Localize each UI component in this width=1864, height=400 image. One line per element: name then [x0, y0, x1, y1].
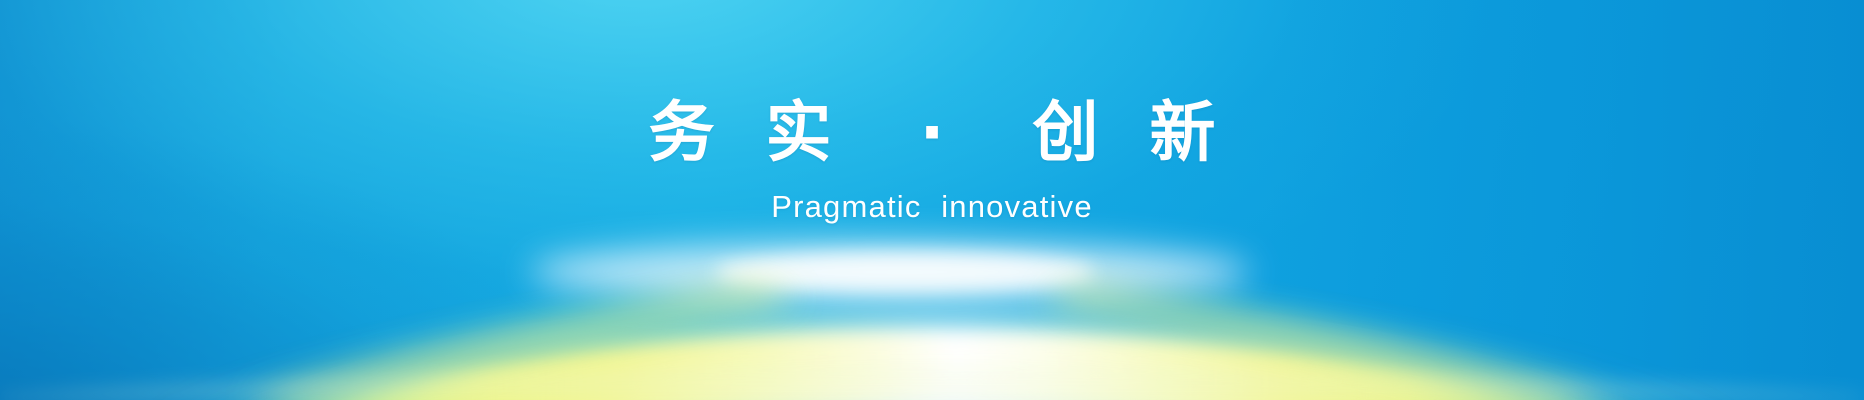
banner-subtitle: Pragmatic innovative	[771, 189, 1093, 225]
arc-core-band	[250, 336, 1660, 400]
background-right-shading	[0, 0, 1864, 400]
banner-content: 务 实 · 创 新 Pragmatic innovative	[0, 0, 1864, 400]
rainbow-arc-svg	[0, 0, 1864, 400]
arc-left-tail	[245, 284, 800, 400]
background-corner-shading	[0, 0, 1864, 400]
arc-main-band	[200, 333, 1700, 400]
arc-apex-highlight	[530, 242, 1250, 302]
arc-bottom-wash	[0, 363, 1864, 400]
rainbow-arc-decoration	[0, 0, 1864, 400]
arc-outer-glow	[150, 332, 1740, 400]
arc-teal-glow	[120, 340, 1760, 400]
arc-right-tail	[1040, 286, 1610, 400]
banner-headline: 务 实 · 创 新	[635, 98, 1230, 167]
arc-apex-hotspot	[715, 253, 1095, 291]
hero-banner: 务 实 · 创 新 Pragmatic innovative	[0, 0, 1864, 400]
